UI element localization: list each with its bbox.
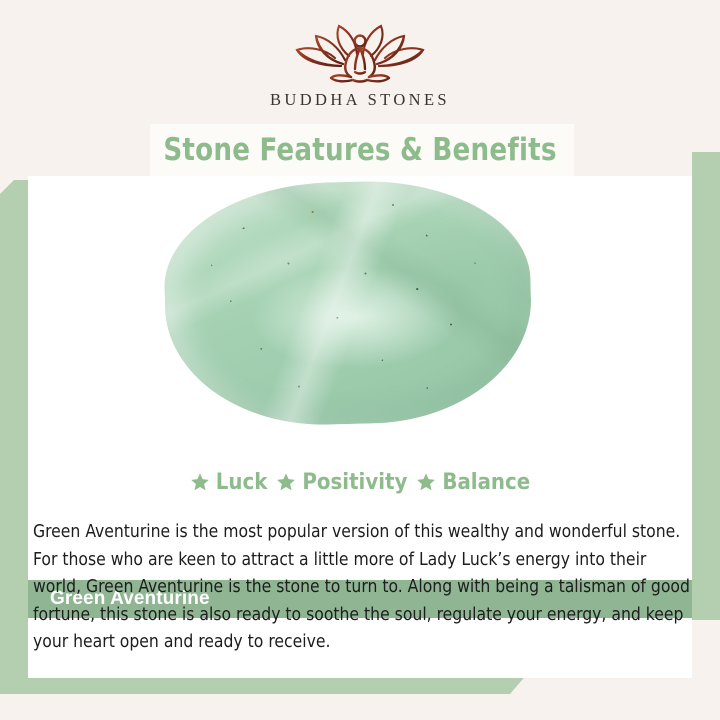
benefit-item-luck: Luck (190, 470, 268, 495)
stone-photo (28, 176, 692, 430)
infographic-page: BUDDHA STONES Stone Features & Benefits … (0, 0, 720, 720)
benefit-item-positivity: Positivity (276, 470, 407, 495)
star-icon (416, 472, 436, 492)
benefits-row: Luck Positivity Balance (28, 466, 692, 498)
benefit-label: Balance (442, 470, 530, 495)
page-title: Stone Features & Benefits (22, 126, 699, 174)
star-icon (190, 472, 210, 492)
brand-header: BUDDHA STONES (0, 0, 720, 128)
brand-name: BUDDHA STONES (270, 90, 450, 110)
benefit-label: Positivity (302, 470, 407, 495)
benefit-item-balance: Balance (416, 470, 530, 495)
star-icon (276, 472, 296, 492)
frame-right-bar (692, 152, 720, 620)
frame-left-bar (0, 180, 28, 694)
green-aventurine-stone-image (162, 177, 534, 428)
lotus-meditation-logo-icon (275, 22, 445, 84)
stone-description: Green Aventurine is the most popular ver… (33, 519, 695, 657)
benefit-label: Luck (216, 470, 268, 495)
